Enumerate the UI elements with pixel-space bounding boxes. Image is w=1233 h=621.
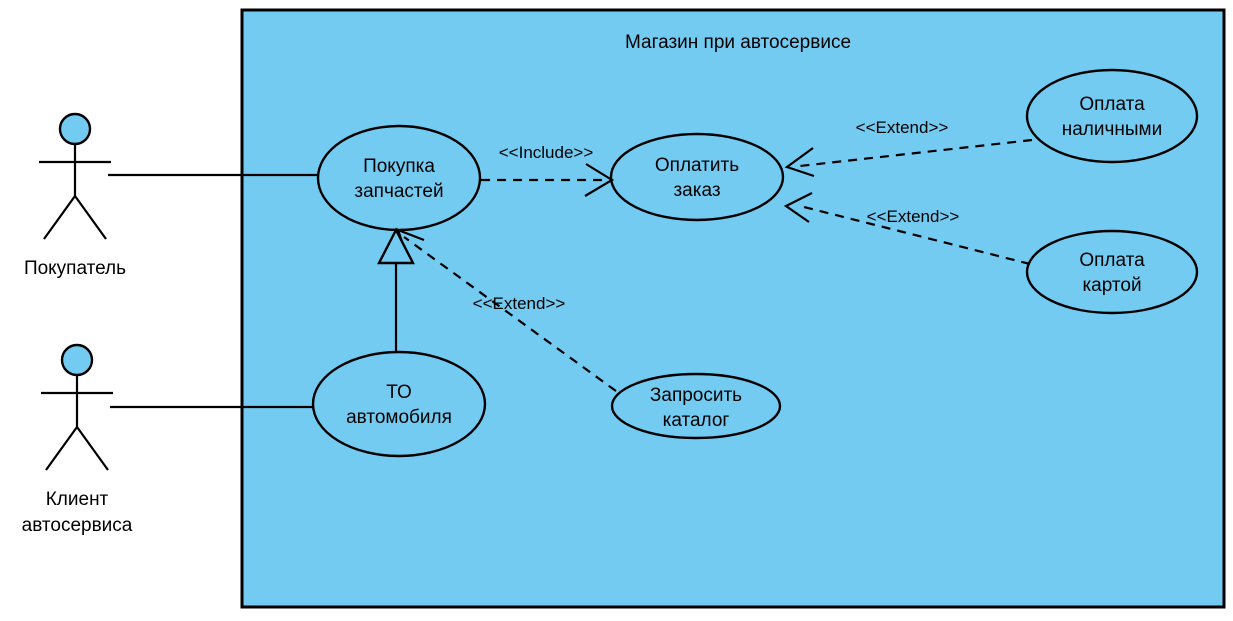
actor-left-leg-icon <box>46 427 77 470</box>
actor-klient-label-line2: автосервиса <box>22 515 133 536</box>
usecase-label-line1: Запросить <box>650 385 742 406</box>
usecase-zaprosit-katalog[interactable]: Запросить каталог <box>612 374 780 438</box>
usecase-ellipse <box>318 126 480 230</box>
usecase-oplata-nalichnymi[interactable]: Оплата наличными <box>1027 70 1197 162</box>
usecase-label-line2: заказ <box>673 180 720 201</box>
usecase-label-line2: запчастей <box>354 181 443 202</box>
usecase-label-line1: Оплата <box>1079 250 1145 271</box>
extend-stereotype-label: <<Extend>> <box>473 294 566 313</box>
actor-right-leg-icon <box>75 196 106 239</box>
usecase-label-line1: Оплатить <box>655 155 739 176</box>
usecase-pokupka-zapchastey[interactable]: Покупка запчастей <box>318 126 480 230</box>
usecase-label-line2: каталог <box>663 410 730 431</box>
usecase-label-line1: Покупка <box>363 156 435 177</box>
actor-head-icon <box>60 114 90 144</box>
usecase-label-line2: наличными <box>1062 119 1162 140</box>
include-stereotype-label: <<Include>> <box>499 143 594 162</box>
actor-klient-avtoservisa[interactable]: Клиент автосервиса <box>22 345 133 536</box>
actor-head-icon <box>62 345 92 375</box>
system-title: Магазин при автосервисе <box>625 32 851 53</box>
extend-stereotype-label: <<Extend>> <box>856 118 949 137</box>
usecase-label-line1: ТО <box>386 382 412 403</box>
usecase-label-line2: картой <box>1082 275 1141 296</box>
diagram-canvas: Магазин при автосервисе Покупатель Клиен… <box>0 0 1233 621</box>
usecase-ellipse <box>1027 231 1197 313</box>
actor-right-leg-icon <box>77 427 108 470</box>
actor-left-leg-icon <box>44 196 75 239</box>
use-case-diagram: Магазин при автосервисе Покупатель Клиен… <box>0 0 1233 621</box>
extend-stereotype-label: <<Extend>> <box>867 207 960 226</box>
usecase-ellipse <box>313 352 485 456</box>
usecase-oplata-kartoy[interactable]: Оплата картой <box>1027 231 1197 313</box>
actor-pokupatel[interactable]: Покупатель <box>24 114 126 279</box>
actor-pokupatel-label: Покупатель <box>24 258 126 279</box>
usecase-ellipse <box>611 134 783 220</box>
usecase-oplatit-zakaz[interactable]: Оплатить заказ <box>611 134 783 220</box>
usecase-to-avtomobilya[interactable]: ТО автомобиля <box>313 352 485 456</box>
usecase-label-line1: Оплата <box>1079 94 1145 115</box>
usecase-ellipse <box>1027 70 1197 162</box>
usecase-label-line2: автомобиля <box>346 407 452 428</box>
actor-klient-label-line1: Клиент <box>46 489 109 510</box>
